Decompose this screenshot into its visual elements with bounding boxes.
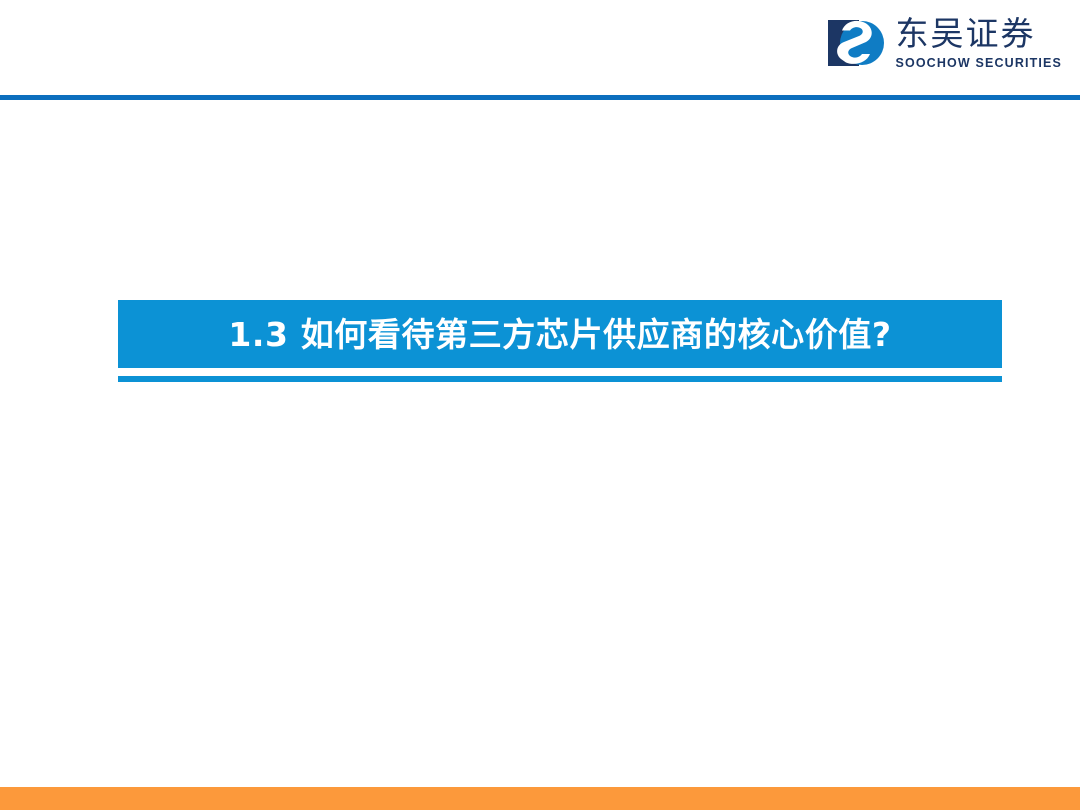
- header-divider-rule: [0, 95, 1080, 100]
- brand-logo: 东吴证券 SOOCHOW SECURITIES: [827, 16, 1062, 70]
- section-title-banner: 1.3 如何看待第三方芯片供应商的核心价值?: [118, 300, 1002, 368]
- section-title-block: 1.3 如何看待第三方芯片供应商的核心价值?: [118, 300, 1002, 382]
- brand-name-en: SOOCHOW SECURITIES: [895, 57, 1062, 70]
- footer-accent-bar: [0, 787, 1080, 810]
- brand-name-cn: 东吴证券: [895, 17, 1035, 52]
- section-title-underline: [118, 376, 1002, 382]
- slide-root: 东吴证券 SOOCHOW SECURITIES 1.3 如何看待第三方芯片供应商…: [0, 0, 1080, 810]
- section-title-text: 1.3 如何看待第三方芯片供应商的核心价值?: [228, 318, 891, 351]
- brand-wordmark: 东吴证券 SOOCHOW SECURITIES: [895, 17, 1062, 69]
- slide-content-area: [0, 390, 1080, 785]
- slide-header: 东吴证券 SOOCHOW SECURITIES: [0, 0, 1080, 98]
- soochow-logo-icon: [827, 16, 885, 70]
